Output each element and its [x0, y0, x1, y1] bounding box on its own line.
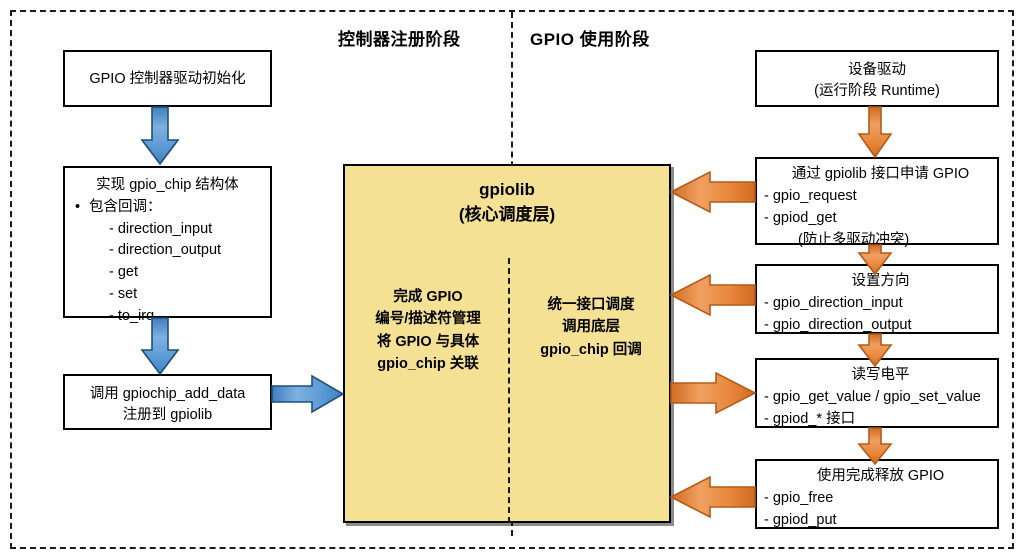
core-inner-divider [508, 258, 510, 523]
core-right-line: 调用底层 [562, 319, 620, 335]
set-direction-item: - gpio_direction_output [764, 314, 997, 336]
core-left-description: 完成 GPIO 编号/描述符管理 将 GPIO 与具体 gpio_chip 关联 [353, 286, 503, 376]
box-device-driver[interactable]: 设备驱动 (运行阶段 Runtime) [755, 50, 999, 107]
box-set-direction[interactable]: 设置方向 - gpio_direction_input - gpio_direc… [755, 264, 999, 334]
callback-item: - direction_output [65, 240, 270, 262]
gpiolib-subtitle: (核心调度层) [459, 205, 555, 224]
request-gpio-note: (防止多驱动冲突) [764, 229, 997, 251]
request-gpio-title: 通过 gpiolib 接口申请 GPIO [764, 164, 997, 185]
core-left-line: 编号/描述符管理 [375, 311, 481, 327]
callback-item: - direction_input [65, 219, 270, 241]
free-gpio-item: - gpiod_put [764, 509, 997, 531]
register-line-2: 注册到 gpiolib [65, 405, 270, 426]
read-write-title: 读写电平 [764, 365, 997, 386]
set-direction-item: - gpio_direction_input [764, 292, 997, 314]
phase-label-registration: 控制器注册阶段 [338, 25, 461, 50]
box-gpiolib-core[interactable]: gpiolib (核心调度层) 完成 GPIO 编号/描述符管理 将 GPIO … [343, 164, 671, 523]
free-gpio-item: - gpio_free [764, 487, 997, 509]
device-driver-line-2: (运行阶段 Runtime) [757, 81, 997, 102]
callback-item: - to_irq [65, 306, 270, 328]
gpio-chip-header: 实现 gpio_chip 结构体 [65, 175, 270, 197]
set-direction-title: 设置方向 [764, 271, 997, 292]
box-register-gpiolib[interactable]: 调用 gpiochip_add_data 注册到 gpiolib [63, 374, 272, 430]
callback-item: - get [65, 262, 270, 284]
box-controller-init[interactable]: GPIO 控制器驱动初始化 [63, 50, 272, 107]
bullet-dot-icon: • [75, 197, 89, 219]
read-write-item: - gpiod_* 接口 [764, 408, 997, 430]
gpiolib-title: gpiolib [479, 180, 535, 199]
core-right-line: gpio_chip 回调 [540, 342, 642, 358]
free-gpio-title: 使用完成释放 GPIO [764, 466, 997, 487]
box-request-gpio[interactable]: 通过 gpiolib 接口申请 GPIO - gpio_request - gp… [755, 157, 999, 245]
box-free-gpio[interactable]: 使用完成释放 GPIO - gpio_free - gpiod_put [755, 459, 999, 529]
phase-label-usage: GPIO 使用阶段 [530, 25, 650, 50]
core-left-line: gpio_chip 关联 [377, 356, 479, 372]
core-right-line: 统一接口调度 [548, 297, 635, 313]
gpio-chip-bullet: •包含回调： [65, 197, 270, 219]
controller-init-title: GPIO 控制器驱动初始化 [65, 69, 270, 90]
core-left-line: 完成 GPIO [393, 289, 462, 305]
core-left-line: 将 GPIO 与具体 [377, 334, 479, 350]
gpiolib-title-group: gpiolib (核心调度层) [345, 178, 669, 227]
core-right-description: 统一接口调度 调用底层 gpio_chip 回调 [516, 294, 666, 361]
device-driver-line-1: 设备驱动 [757, 60, 997, 81]
box-gpio-chip-struct[interactable]: 实现 gpio_chip 结构体 •包含回调： - direction_inpu… [63, 166, 272, 318]
diagram-canvas: 控制器注册阶段 GPIO 使用阶段 GPIO 控制器驱动初始化 实现 gpio_… [0, 0, 1024, 559]
box-read-write-level[interactable]: 读写电平 - gpio_get_value / gpio_set_value -… [755, 358, 999, 428]
register-line-1: 调用 gpiochip_add_data [65, 384, 270, 405]
read-write-item: - gpio_get_value / gpio_set_value [764, 386, 997, 408]
callback-item: - set [65, 284, 270, 306]
request-gpio-item: - gpiod_get [764, 207, 997, 229]
request-gpio-item: - gpio_request [764, 185, 997, 207]
gpio-chip-bullet-label: 包含回调： [89, 199, 162, 215]
